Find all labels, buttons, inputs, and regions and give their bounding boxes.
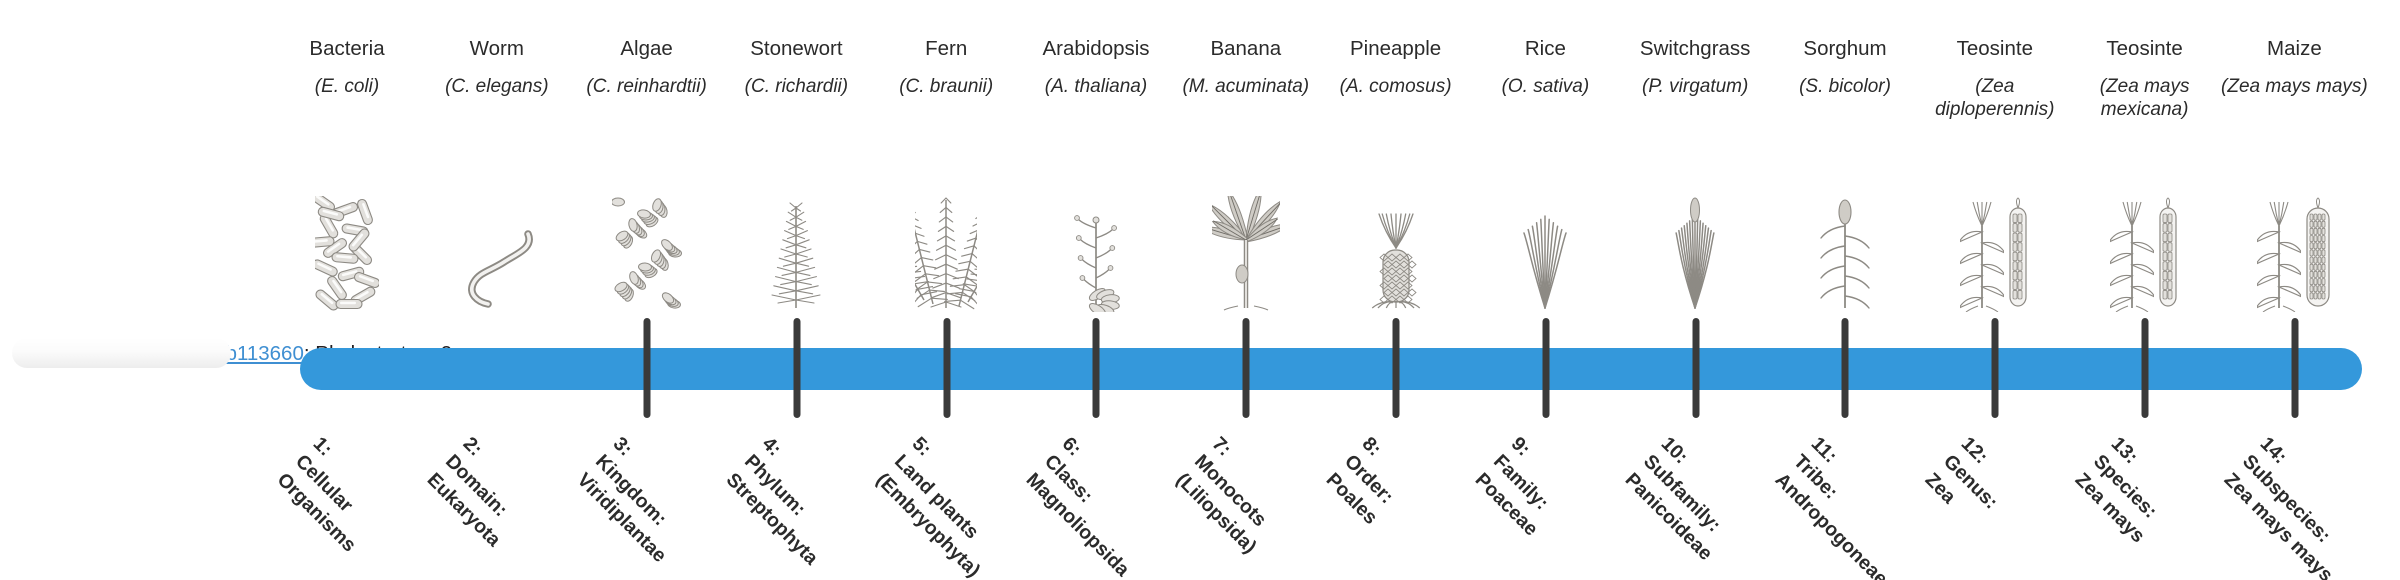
rice-icon [1470, 204, 1620, 312]
species-scientific-name: (C. elegans) [422, 75, 572, 98]
bacteria-icon [272, 204, 422, 312]
species-column: Bacteria(E. coli) [272, 0, 422, 320]
species-common-name: Teosinte [2070, 36, 2220, 62]
species-names: Fern(C. braunii) [871, 36, 1021, 98]
species-scientific-name: (Zea mays mays) [2219, 75, 2369, 98]
species-names: Teosinte(Zea diploperennis) [1920, 36, 2070, 121]
species-column: Arabidopsis(A. thaliana) [1021, 0, 1171, 320]
phylostratum-tick [1093, 318, 1100, 418]
phylostratum-tick [1692, 318, 1699, 418]
species-common-name: Fern [871, 36, 1021, 62]
species-common-name: Worm [422, 36, 572, 62]
species-column: Maize(Zea mays mays) [2219, 0, 2369, 320]
species-scientific-name: (A. thaliana) [1021, 75, 1171, 98]
phylostratum-tick [1542, 318, 1549, 418]
bar-track[interactable] [300, 348, 2362, 390]
phylostratum-bar [300, 318, 2362, 420]
species-scientific-name: (E. coli) [272, 75, 422, 98]
bar-unfilled-region [12, 338, 231, 368]
species-names: Banana(M. acuminata) [1171, 36, 1321, 98]
species-scientific-name: (O. sativa) [1470, 75, 1620, 98]
species-common-name: Rice [1470, 36, 1620, 62]
phylostratum-tick [1243, 318, 1250, 418]
species-names: Maize(Zea mays mays) [2219, 36, 2369, 98]
species-column: Sorghum(S. bicolor) [1770, 0, 1920, 320]
species-scientific-name: (M. acuminata) [1171, 75, 1321, 98]
species-column: Fern(C. braunii) [871, 0, 1021, 320]
species-common-name: Teosinte [1920, 36, 2070, 62]
sorghum-icon [1770, 204, 1920, 312]
phylostratum-tick [1842, 318, 1849, 418]
species-names: Sorghum(S. bicolor) [1770, 36, 1920, 98]
species-names: Teosinte(Zea mays mexicana) [2070, 36, 2220, 121]
species-scientific-name: (Zea mays mexicana) [2070, 75, 2220, 121]
species-column: Switchgrass(P. virgatum) [1620, 0, 1770, 320]
species-names: Switchgrass(P. virgatum) [1620, 36, 1770, 98]
phylostratum-tick [2291, 318, 2298, 418]
species-column: Algae(C. reinhardtii) [572, 0, 722, 320]
species-names: Stonewort(C. richardii) [721, 36, 871, 98]
maize-icon [2219, 204, 2369, 312]
switchgrass-icon [1620, 204, 1770, 312]
species-scientific-name: (C. richardii) [721, 75, 871, 98]
phylostratum-tick [2142, 318, 2149, 418]
species-common-name: Switchgrass [1620, 36, 1770, 62]
species-common-name: Arabidopsis [1021, 36, 1171, 62]
worm-icon [422, 204, 572, 312]
species-names: Arabidopsis(A. thaliana) [1021, 36, 1171, 98]
species-names: Worm(C. elegans) [422, 36, 572, 98]
phylostratum-tick [1393, 318, 1400, 418]
phylostratum-tick [943, 318, 950, 418]
species-column: Pineapple(A. comosus) [1321, 0, 1471, 320]
species-common-name: Pineapple [1321, 36, 1471, 62]
fern-icon [871, 204, 1021, 312]
teosinte-mexicana-icon [2070, 204, 2220, 312]
phylostratum-tick [1992, 318, 1999, 418]
species-scientific-name: (Zea diploperennis) [1920, 75, 2070, 121]
pineapple-icon [1321, 204, 1471, 312]
species-common-name: Banana [1171, 36, 1321, 62]
species-scientific-name: (C. reinhardtii) [572, 75, 722, 98]
species-names: Rice(O. sativa) [1470, 36, 1620, 98]
species-common-name: Stonewort [721, 36, 871, 62]
phylostratum-tick [644, 318, 651, 418]
species-scientific-name: (S. bicolor) [1770, 75, 1920, 98]
species-names: Algae(C. reinhardtii) [572, 36, 722, 98]
stonewort-icon [721, 204, 871, 312]
species-column: Worm(C. elegans) [422, 0, 572, 320]
teosinte-diploperennis-icon [1920, 204, 2070, 312]
banana-icon [1171, 204, 1321, 312]
species-names: Bacteria(E. coli) [272, 36, 422, 98]
species-scientific-name: (P. virgatum) [1620, 75, 1770, 98]
algae-icon [572, 204, 722, 312]
species-scientific-name: (C. braunii) [871, 75, 1021, 98]
phylostratum-tick [793, 318, 800, 418]
species-common-name: Bacteria [272, 36, 422, 62]
species-scientific-name: (A. comosus) [1321, 75, 1471, 98]
species-column: Teosinte(Zea mays mexicana) [2070, 0, 2220, 320]
species-column: Stonewort(C. richardii) [721, 0, 871, 320]
arabidopsis-icon [1021, 204, 1171, 312]
species-common-name: Maize [2219, 36, 2369, 62]
species-common-name: Algae [572, 36, 722, 62]
species-column: Banana(M. acuminata) [1171, 0, 1321, 320]
species-column: Rice(O. sativa) [1470, 0, 1620, 320]
phylostratum-figure: Zm00001eb113660: Phylostratum 2 Bacteria… [0, 0, 2400, 580]
species-column: Teosinte(Zea diploperennis) [1920, 0, 2070, 320]
species-names: Pineapple(A. comosus) [1321, 36, 1471, 98]
species-common-name: Sorghum [1770, 36, 1920, 62]
